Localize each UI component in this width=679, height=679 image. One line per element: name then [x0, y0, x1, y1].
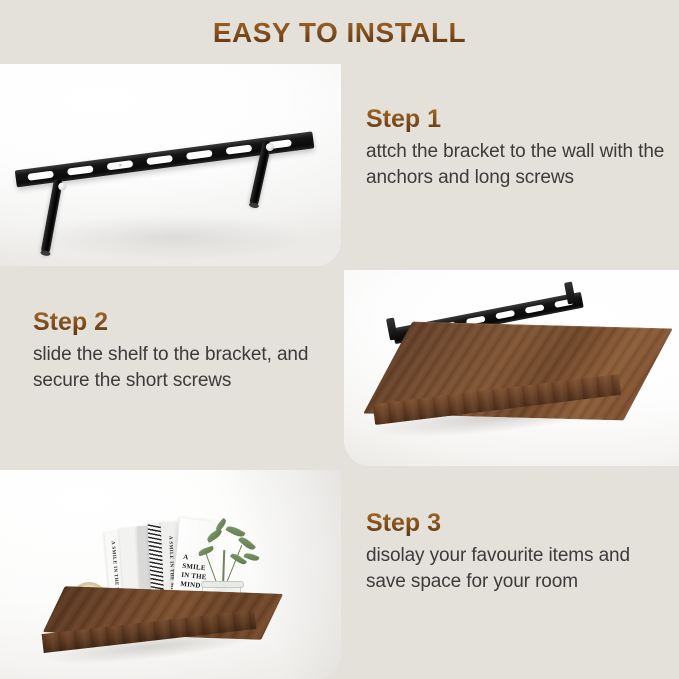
step-2-image-panel	[344, 270, 679, 466]
step-1-body: attch the bracket to the wall with the a…	[366, 139, 666, 191]
step-2-text-block: Step 2 slide the shelf to the bracket, a…	[33, 307, 333, 394]
bracket-slot	[67, 165, 94, 175]
bracket-slot	[146, 155, 173, 165]
step-3-text-block: Step 3 disolay your favourite items and …	[366, 508, 671, 595]
jar-rim	[201, 581, 244, 588]
step-3-heading: Step 3	[366, 508, 671, 538]
bracket-slot	[226, 144, 253, 154]
bracket-slot	[186, 150, 213, 160]
rod-end-cap	[40, 250, 51, 257]
step-2-body: slide the shelf to the bracket, and secu…	[33, 342, 333, 394]
bracket-screw-left	[58, 182, 67, 191]
page-title: EASY TO INSTALL	[0, 16, 679, 50]
bracket-slot	[495, 310, 515, 320]
rod-end-cap	[248, 202, 259, 209]
step-1-text-block: Step 1 attch the bracket to the wall wit…	[366, 104, 666, 191]
step-3-body: disolay your favourite items and save sp…	[366, 543, 671, 595]
step-1-heading: Step 1	[366, 104, 666, 134]
step-2-heading: Step 2	[33, 307, 333, 337]
step-3-image-panel: A SMILE IN THE MIND A SMILE IN THE MIND …	[0, 470, 341, 679]
bracket-slot	[525, 304, 545, 314]
step-1-image-panel	[0, 64, 341, 266]
infographic-canvas: EASY TO INSTALL	[0, 0, 679, 679]
bracket-slot	[27, 171, 54, 181]
